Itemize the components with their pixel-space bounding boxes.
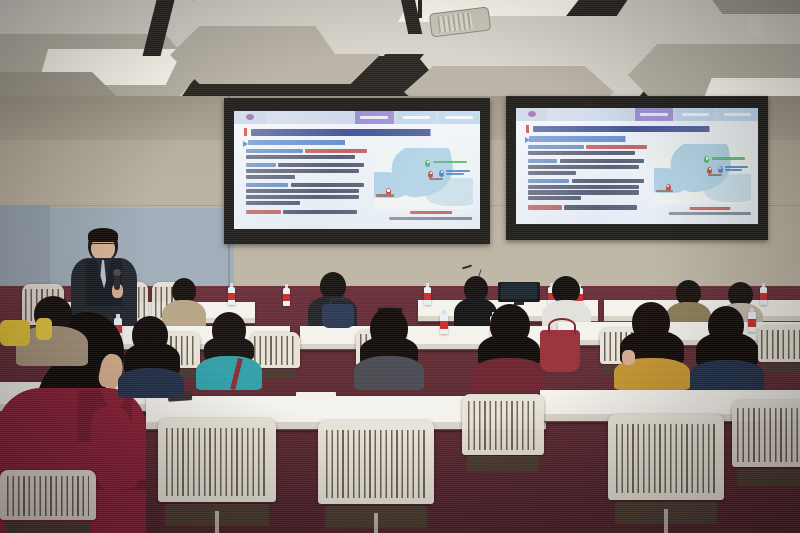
chair-empty-front[interactable] (318, 420, 434, 528)
map-label-lawrence-berkeley-lab (725, 169, 742, 171)
bullet-text (528, 171, 576, 175)
slide-tab-measures[interactable] (439, 111, 478, 124)
map-caption-en (389, 217, 473, 220)
navy-handbag (322, 304, 354, 328)
bullet-text (572, 179, 645, 183)
map-pin-lawrence-berkeley-lab (439, 170, 444, 177)
bullet-key (528, 205, 562, 209)
bullet-text (528, 185, 639, 189)
slide-tab-background[interactable] (635, 108, 674, 121)
bullet-text (246, 189, 359, 193)
audience-teal-top (194, 312, 264, 386)
bullet-key (528, 179, 569, 183)
slide-title (244, 127, 470, 138)
water-bottle (283, 288, 290, 306)
title-text (251, 129, 470, 136)
wall-blue-panel (0, 206, 50, 288)
audience-grey-top (352, 308, 426, 384)
map-caption-cn (689, 207, 730, 210)
slide-logo (516, 108, 547, 121)
slide-tab-measures[interactable] (718, 108, 757, 121)
slide-nav-bar (234, 111, 480, 124)
map-label-san-francisco (656, 190, 673, 192)
ceiling-speaker-right (748, 14, 763, 36)
map-label-uc-berkeley (429, 178, 443, 180)
handheld-microphone (113, 269, 121, 276)
slide-logo (234, 111, 266, 124)
audience-hand (622, 350, 635, 365)
slide-nav-bar (516, 108, 758, 121)
bullet-text (283, 210, 357, 214)
bullet-text (291, 183, 365, 187)
bullet-text (528, 151, 634, 155)
slide-surface (516, 108, 758, 224)
bullet-text (564, 205, 637, 209)
bullet-text (305, 149, 367, 153)
university-logo-icon (246, 114, 254, 120)
navy-handbag (330, 298, 348, 307)
presenter-hair (88, 228, 118, 242)
map-caption-cn (410, 211, 452, 214)
map-water (704, 174, 750, 202)
map-pin-lawrence-berkeley-lab (718, 166, 723, 173)
chair-empty-front[interactable] (462, 394, 544, 472)
map-figure (654, 144, 751, 204)
lecture-hall-photo (0, 0, 800, 533)
university-logo-icon (528, 111, 536, 117)
map-label-uc-berkeley (708, 174, 722, 176)
map-label-lawrence-berkeley-lab (725, 166, 748, 168)
audience-dark-top-right (472, 304, 548, 386)
slide-content (516, 108, 758, 224)
map-label-lawrence-berkeley-lab (446, 173, 464, 175)
bullet-key (528, 145, 584, 149)
title-text (533, 126, 749, 132)
bullet-text (586, 145, 647, 149)
water-bottle (228, 287, 235, 305)
red-handbag (548, 318, 576, 334)
chair-empty-front[interactable] (0, 470, 96, 533)
map-pin-uc-berkeley (707, 167, 712, 174)
slide-title (526, 124, 749, 134)
bullet-key (528, 159, 557, 163)
map-caption-en (668, 212, 750, 215)
audience-yellow-accent (0, 320, 30, 346)
bullet-key (246, 183, 288, 187)
bullet-text (528, 196, 581, 200)
bullet-text (246, 195, 359, 199)
chair-empty-front[interactable] (158, 418, 276, 526)
slide-tab-plan[interactable] (397, 111, 436, 124)
slide-tab-background[interactable] (355, 111, 394, 124)
bullet-key (246, 210, 280, 214)
slide-content (234, 111, 480, 229)
bullet-text (246, 175, 295, 179)
map-water (425, 178, 472, 206)
red-handbag (540, 330, 580, 372)
projection-screen-right[interactable] (506, 96, 768, 240)
bullet-text (528, 165, 639, 169)
chair-empty-front[interactable] (608, 414, 724, 524)
water-bottle (440, 314, 448, 334)
bullet-key (246, 163, 276, 167)
audience-navy-top (688, 306, 766, 386)
bullet-text (560, 159, 645, 163)
map-figure (374, 148, 472, 209)
slide-surface (234, 111, 480, 229)
projection-screen-left[interactable] (224, 98, 490, 244)
slide-tab-plan[interactable] (676, 108, 715, 121)
bullet-text (246, 169, 359, 173)
glasses-icon (92, 243, 114, 248)
lectern-monitor (498, 282, 540, 302)
map-label-berkeley-global-campus (712, 157, 745, 159)
audience-mustard-sweater (610, 302, 692, 384)
title-accent-bar (244, 128, 247, 136)
wall-right-dark (768, 96, 800, 296)
bullet-text (528, 190, 639, 194)
bullet-text (278, 163, 364, 167)
audience-navy-left-edge (118, 316, 186, 388)
bullet-text (246, 201, 300, 205)
map-label-san-francisco (376, 194, 394, 196)
title-accent-bar (526, 125, 529, 133)
slide-subtitle (529, 136, 640, 141)
chair-empty-front[interactable] (732, 400, 800, 486)
map-label-lawrence-berkeley-lab (446, 170, 470, 172)
bullet-text (246, 155, 354, 159)
bullet-key (246, 149, 303, 153)
slide-subtitle (248, 140, 361, 145)
water-bottle (424, 287, 431, 305)
audience-yellow-accent (36, 318, 52, 340)
handout-papers (296, 392, 336, 400)
